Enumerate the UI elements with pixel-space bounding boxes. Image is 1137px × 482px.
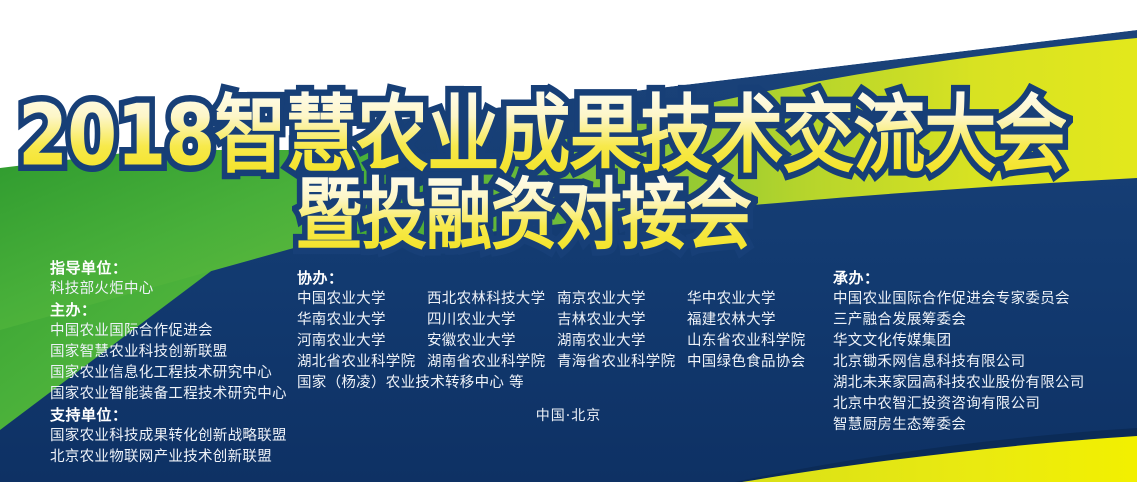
host-item: 中国农业国际合作促进会 <box>50 321 310 342</box>
poster-banner: 2018智慧农业成果技术交流大会 2018智慧农业成果技术交流大会 暨投融资对接… <box>0 0 1137 482</box>
coorganizer-item: 中国绿色食品协会 <box>687 352 817 373</box>
organizer-item: 北京锄禾网信息科技有限公司 <box>833 352 1133 373</box>
coorganizer-last-item: 国家（杨凌）农业技术转移中心 等 <box>297 373 817 394</box>
coorganizer-item: 中国农业大学 <box>297 289 427 310</box>
left-info-column: 指导单位： 科技部火炬中心 主办： 中国农业国际合作促进会 国家智慧农业科技创新… <box>50 258 310 468</box>
coorganizer-item: 湖北省农业科学院 <box>297 352 427 373</box>
coorganizer-column: 协办： 中国农业大学 西北农林科技大学 南京农业大学 华中农业大学 华南农业大学… <box>297 268 817 394</box>
coorganizer-item: 南京农业大学 <box>557 289 687 310</box>
coorganizer-item: 华南农业大学 <box>297 310 427 331</box>
host-item: 国家农业信息化工程技术研究中心 <box>50 363 310 384</box>
coorganizer-item: 河南农业大学 <box>297 331 427 352</box>
coorganizer-item: 四川农业大学 <box>427 310 557 331</box>
coorganizer-item: 安徽农业大学 <box>427 331 557 352</box>
support-item: 国家农业科技成果转化创新战略联盟 <box>50 426 310 447</box>
coorganizer-row: 河南农业大学 安徽农业大学 湖南农业大学 山东省农业科学院 <box>297 331 817 352</box>
coorganizer-item: 山东省农业科学院 <box>687 331 817 352</box>
support-item: 北京农业物联网产业技术创新联盟 <box>50 447 310 468</box>
organizer-heading: 承办： <box>833 268 1133 289</box>
host-item: 国家农业智能装备工程技术研究中心 <box>50 384 310 405</box>
organizer-item: 华文文化传媒集团 <box>833 331 1133 352</box>
coorganizer-row: 中国农业大学 西北农林科技大学 南京农业大学 华中农业大学 <box>297 289 817 310</box>
coorganizer-item: 西北农林科技大学 <box>427 289 557 310</box>
coorganizer-heading: 协办： <box>297 268 817 289</box>
coorganizer-item: 湖南省农业科学院 <box>427 352 557 373</box>
coorganizer-item: 吉林农业大学 <box>557 310 687 331</box>
coorganizer-item: 华中农业大学 <box>687 289 817 310</box>
coorganizer-item: 福建农林大学 <box>687 310 817 331</box>
host-heading: 主办： <box>50 300 310 321</box>
bg-white-topleft <box>0 0 420 150</box>
organizer-item: 湖北未来家园高科技农业股份有限公司 <box>833 373 1133 394</box>
host-item: 国家智慧农业科技创新联盟 <box>50 342 310 363</box>
organizer-item: 中国农业国际合作促进会专家委员会 <box>833 289 1133 310</box>
venue-label: 中国·北京 <box>0 405 1137 425</box>
coorganizer-row: 湖北省农业科学院 湖南省农业科学院 青海省农业科学院 中国绿色食品协会 <box>297 352 817 373</box>
coorganizer-row: 华南农业大学 四川农业大学 吉林农业大学 福建农林大学 <box>297 310 817 331</box>
guide-heading: 指导单位： <box>50 258 310 279</box>
organizer-item: 三产融合发展筹委会 <box>833 310 1133 331</box>
coorganizer-item: 青海省农业科学院 <box>557 352 687 373</box>
guide-item: 科技部火炬中心 <box>50 279 310 300</box>
coorganizer-item: 湖南农业大学 <box>557 331 687 352</box>
